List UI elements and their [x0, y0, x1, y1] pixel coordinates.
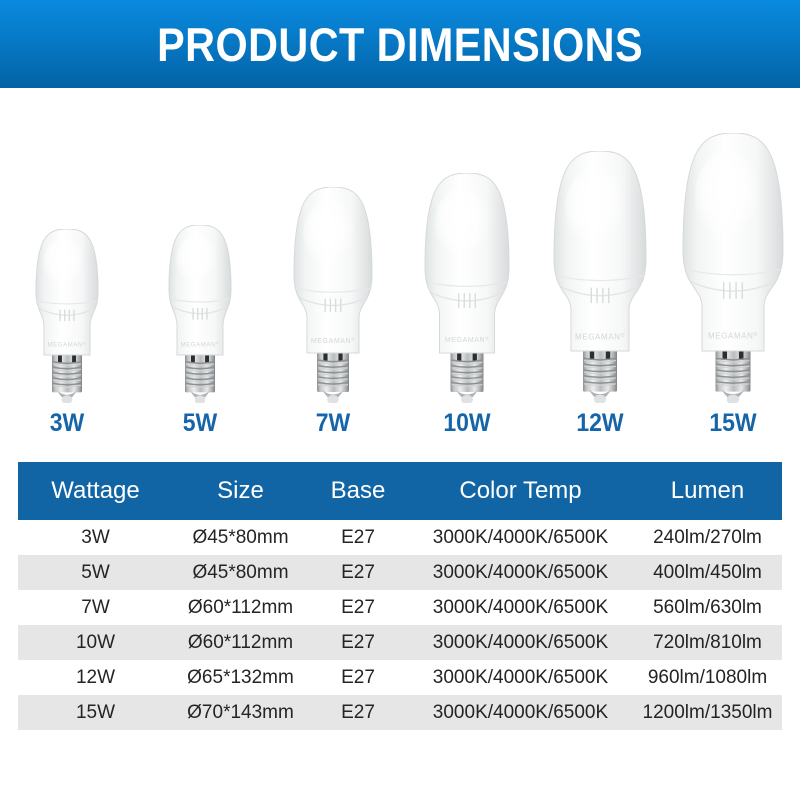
bulb-item-5w: MEGAMAN® 5W: [135, 88, 265, 438]
bulb-item-15w: MEGAMAN® 15W: [668, 88, 798, 438]
bulb-wattage-label: 15W: [674, 411, 794, 436]
cell-lumen: 960lm/1080lm: [633, 660, 782, 695]
cell-wattage: 15W: [18, 695, 173, 730]
bulb-gallery: MEGAMAN® 3W: [0, 88, 800, 438]
cell-wattage: 3W: [18, 520, 173, 555]
bulb-wattage-label: 5W: [140, 411, 260, 436]
cell-colortemp: 3000K/4000K/6500K: [408, 520, 633, 555]
bulb-item-10w: MEGAMAN® 10W: [402, 88, 532, 438]
table-header-row: Wattage Size Base Color Temp Lumen: [18, 462, 782, 520]
cell-wattage: 5W: [18, 555, 173, 590]
bulb-image-15w: MEGAMAN®: [679, 133, 787, 403]
specifications-table: Wattage Size Base Color Temp Lumen 3WØ45…: [18, 462, 782, 730]
cell-lumen: 400lm/450lm: [633, 555, 782, 590]
e27-base: [450, 352, 483, 403]
bulb-wattage-label: 3W: [7, 411, 127, 436]
e27-base: [317, 352, 349, 403]
cell-colortemp: 3000K/4000K/6500K: [408, 590, 633, 625]
bulb-wattage-label: 12W: [540, 411, 660, 436]
table-row: 3WØ45*80mmE273000K/4000K/6500K240lm/270l…: [18, 520, 782, 555]
cell-lumen: 720lm/810lm: [633, 625, 782, 660]
table-row: 12WØ65*132mmE273000K/4000K/6500K960lm/10…: [18, 660, 782, 695]
e27-base: [52, 354, 82, 403]
cell-base: E27: [308, 590, 408, 625]
bulb-image-5w: MEGAMAN®: [165, 225, 235, 403]
cell-base: E27: [308, 660, 408, 695]
cell-lumen: 560lm/630lm: [633, 590, 782, 625]
megaman-brand-text: MEGAMAN®: [47, 341, 86, 349]
cell-size: Ø60*112mm: [173, 590, 308, 625]
megaman-brand-text: MEGAMAN®: [311, 336, 355, 345]
bulb-wattage-label: 10W: [407, 411, 527, 436]
bulb-item-7w: MEGAMAN® 7W: [268, 88, 398, 438]
table-row: 5WØ45*80mmE273000K/4000K/6500K400lm/450l…: [18, 555, 782, 590]
column-header-lumen: Lumen: [633, 462, 782, 520]
e27-base: [716, 350, 751, 403]
bulb-image-3w: MEGAMAN®: [32, 229, 102, 403]
cell-colortemp: 3000K/4000K/6500K: [408, 625, 633, 660]
bulb-image-10w: MEGAMAN®: [421, 173, 513, 403]
page-title: PRODUCT DIMENSIONS: [157, 21, 643, 68]
bulb-illustration-15w: MEGAMAN®: [679, 133, 787, 403]
cell-colortemp: 3000K/4000K/6500K: [408, 695, 633, 730]
cell-lumen: 1200lm/1350lm: [633, 695, 782, 730]
cell-base: E27: [308, 520, 408, 555]
bulb-illustration-12w: MEGAMAN®: [550, 151, 650, 403]
megaman-brand-text: MEGAMAN®: [575, 332, 625, 341]
e27-base: [583, 350, 617, 403]
cell-base: E27: [308, 625, 408, 660]
bulb-illustration-3w: MEGAMAN®: [32, 229, 102, 403]
cell-size: Ø45*80mm: [173, 555, 308, 590]
bulb-illustration-7w: MEGAMAN®: [290, 187, 376, 403]
bulb-item-12w: MEGAMAN® 12W: [535, 88, 665, 438]
megaman-brand-text: MEGAMAN®: [181, 341, 220, 349]
e27-base: [185, 354, 215, 403]
table-body: 3WØ45*80mmE273000K/4000K/6500K240lm/270l…: [18, 520, 782, 730]
cell-lumen: 240lm/270lm: [633, 520, 782, 555]
bulb-wattage-label: 7W: [274, 411, 394, 436]
bulb-illustration-10w: MEGAMAN®: [421, 173, 513, 403]
column-header-size: Size: [173, 462, 308, 520]
bulb-illustration-5w: MEGAMAN®: [165, 225, 235, 403]
cell-wattage: 10W: [18, 625, 173, 660]
table-row: 10WØ60*112mmE273000K/4000K/6500K720lm/81…: [18, 625, 782, 660]
bulb-image-12w: MEGAMAN®: [550, 151, 650, 403]
cell-colortemp: 3000K/4000K/6500K: [408, 660, 633, 695]
cell-wattage: 7W: [18, 590, 173, 625]
table-row: 7WØ60*112mmE273000K/4000K/6500K560lm/630…: [18, 590, 782, 625]
cell-base: E27: [308, 695, 408, 730]
page-header-banner: PRODUCT DIMENSIONS: [0, 0, 800, 88]
megaman-brand-text: MEGAMAN®: [708, 331, 758, 340]
megaman-brand-text: MEGAMAN®: [444, 335, 488, 344]
cell-base: E27: [308, 555, 408, 590]
bulb-item-3w: MEGAMAN® 3W: [2, 88, 132, 438]
column-header-wattage: Wattage: [18, 462, 173, 520]
cell-size: Ø65*132mm: [173, 660, 308, 695]
cell-wattage: 12W: [18, 660, 173, 695]
cell-colortemp: 3000K/4000K/6500K: [408, 555, 633, 590]
cell-size: Ø60*112mm: [173, 625, 308, 660]
column-header-colortemp: Color Temp: [408, 462, 633, 520]
table-row: 15WØ70*143mmE273000K/4000K/6500K1200lm/1…: [18, 695, 782, 730]
cell-size: Ø70*143mm: [173, 695, 308, 730]
column-header-base: Base: [308, 462, 408, 520]
bulb-image-7w: MEGAMAN®: [290, 187, 376, 403]
cell-size: Ø45*80mm: [173, 520, 308, 555]
